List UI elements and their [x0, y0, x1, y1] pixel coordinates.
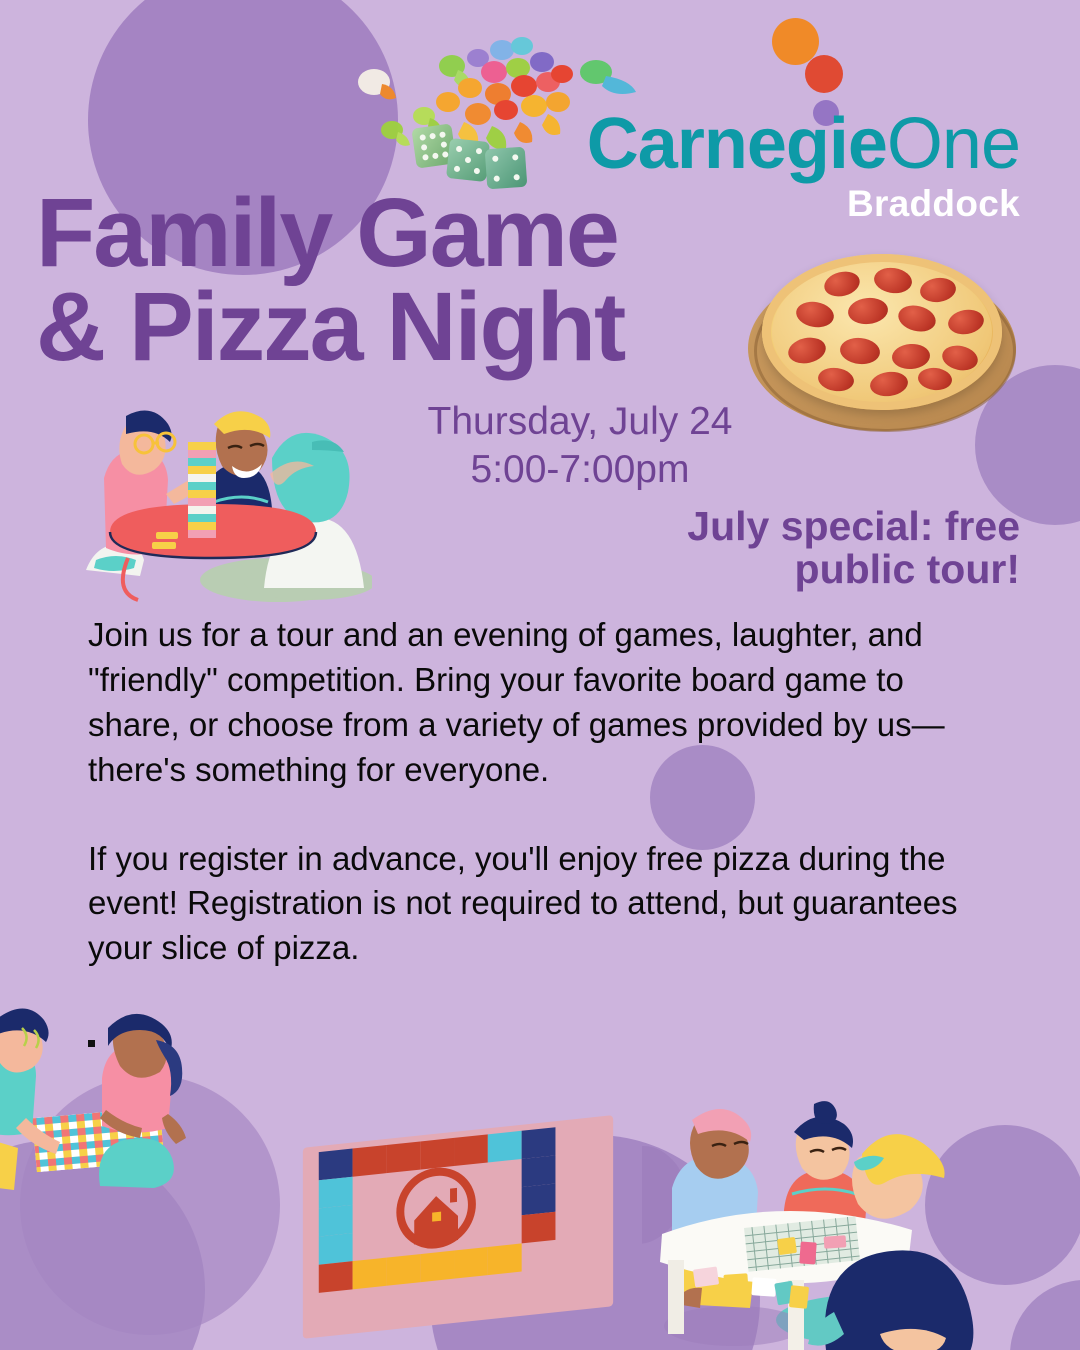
logo-word-light: One [887, 104, 1020, 184]
body-paragraph-2: If you register in advance, you'll enjoy… [88, 837, 1003, 972]
event-time: 5:00-7:00pm [370, 446, 790, 494]
pizza-crust [762, 254, 1002, 410]
decor-dot-red [805, 55, 843, 93]
body-copy: Join us for a tour and an evening of gam… [88, 613, 1003, 971]
special-line-1: July special: free [520, 505, 1020, 548]
property-board-game [299, 1111, 617, 1350]
page-title: Family Game & Pizza Night [36, 186, 776, 374]
event-special-callout: July special: free public tour! [520, 505, 1020, 592]
poster-canvas: CarnegieOne Braddock Family Game & Pizza… [0, 0, 1080, 1350]
event-datetime: Thursday, July 24 5:00-7:00pm [370, 398, 790, 493]
kid-right [99, 1014, 186, 1188]
event-date: Thursday, July 24 [370, 398, 790, 446]
logo-wordmark: CarnegieOne [560, 110, 1020, 179]
decor-circle-bottom-right-corner [1010, 1280, 1080, 1350]
page-title-line-1: Family Game [36, 186, 776, 280]
logo-word-bold: Carnegie [587, 104, 887, 184]
kids-board-game-illustration [0, 1000, 240, 1200]
page-title-line-2: & Pizza Night [36, 280, 776, 374]
jenga-illustration [82, 382, 372, 607]
jenga-tower [188, 442, 216, 538]
special-line-2: public tour! [520, 548, 1020, 591]
family-table-illustration [642, 1098, 1002, 1350]
body-paragraph-1: Join us for a tour and an evening of gam… [88, 613, 1003, 793]
